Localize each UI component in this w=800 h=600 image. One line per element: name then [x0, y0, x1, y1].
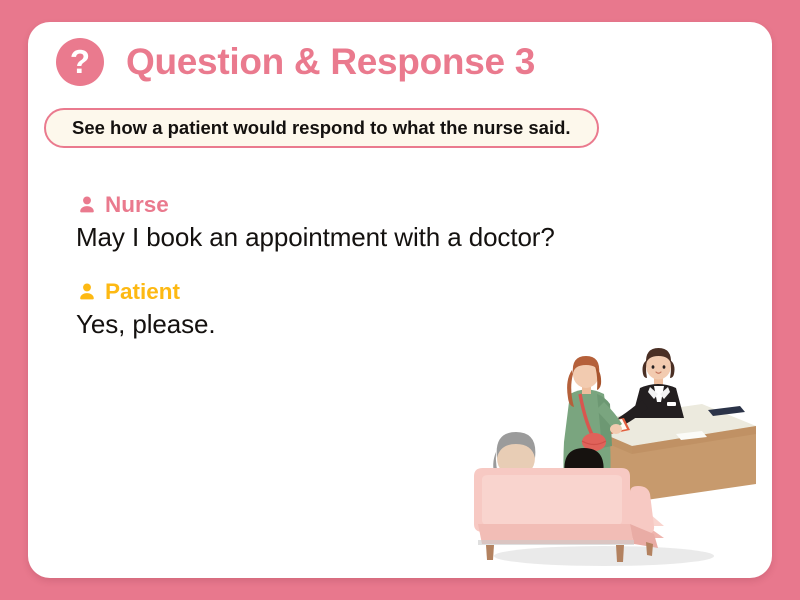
speaker-row-patient: Patient: [76, 281, 716, 304]
instruction-banner: See how a patient would respond to what …: [44, 108, 599, 148]
page-title: Question & Response 3: [126, 41, 535, 83]
dialogue-turn-nurse: Nurse May I book an appointment with a d…: [76, 194, 716, 253]
slide-card: ? Question & Response 3 See how a patien…: [28, 22, 772, 578]
person-icon: [76, 281, 98, 303]
dialogue-line-patient: Yes, please.: [76, 308, 716, 341]
dialogue-list: Nurse May I book an appointment with a d…: [76, 194, 716, 340]
dialogue-turn-patient: Patient Yes, please.: [76, 281, 716, 340]
dialogue-line-nurse: May I book an appointment with a doctor?: [76, 221, 716, 254]
hospital-reception-waiting-room-illustration: [464, 342, 764, 572]
pink-frame-background: ? Question & Response 3 See how a patien…: [0, 0, 800, 600]
person-icon: [76, 194, 98, 216]
question-mark-icon: ?: [56, 38, 104, 86]
header: ? Question & Response 3: [56, 38, 535, 86]
speaker-row-nurse: Nurse: [76, 194, 716, 217]
speaker-name-nurse: Nurse: [105, 194, 169, 217]
instruction-text: See how a patient would respond to what …: [72, 117, 571, 139]
speaker-name-patient: Patient: [105, 281, 180, 304]
question-mark-glyph: ?: [70, 45, 90, 78]
